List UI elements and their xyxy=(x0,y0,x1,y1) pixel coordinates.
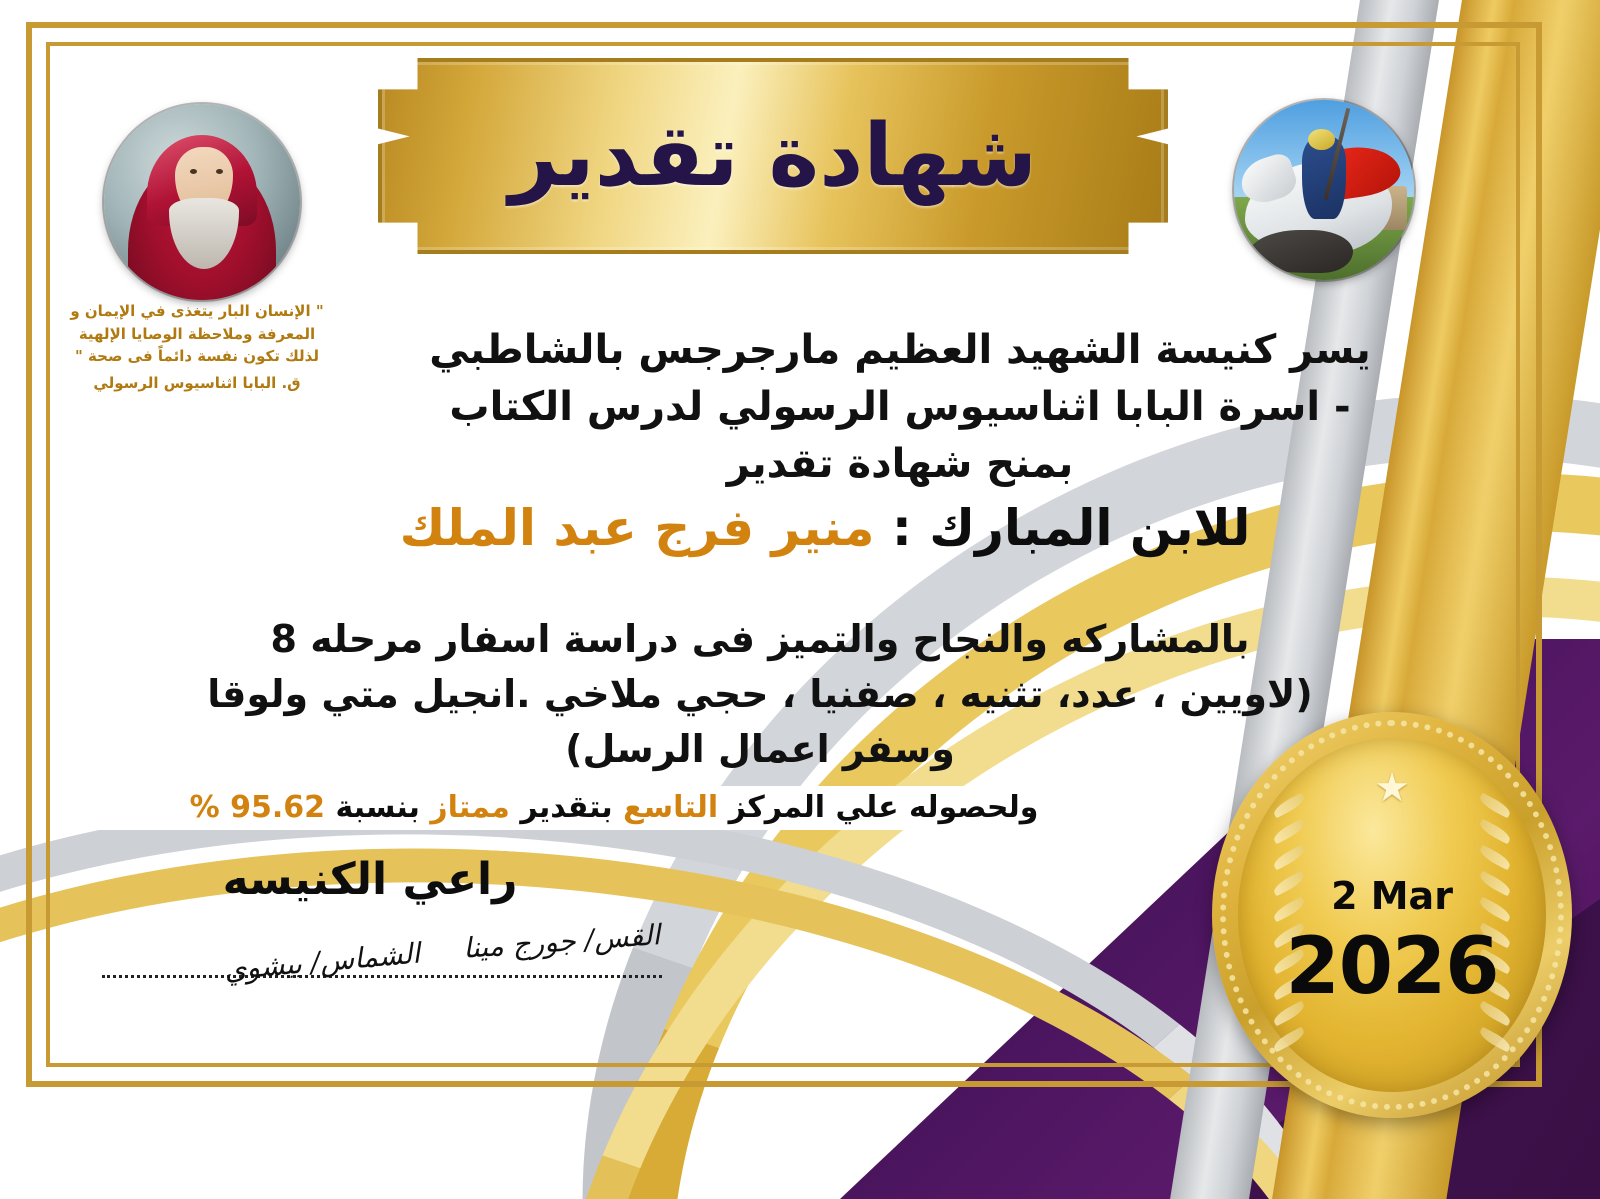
award-medal: ★ 2 Mar 2026 xyxy=(1212,712,1572,1118)
result-grade: ممتاز xyxy=(430,790,509,825)
dragon-shape xyxy=(1248,230,1352,273)
body-line-3: بمنح شهادة تقدير xyxy=(360,436,1440,493)
quote-source: ق. البابا اثناسيوس الرسولي xyxy=(62,372,332,395)
result-line: ولحصوله علي المركز التاسع بتقدير ممتاز ب… xyxy=(64,786,1164,830)
signature-dotted-line xyxy=(102,975,662,978)
signature-row: القس/ جورج مينا الشماس/ بيشوي xyxy=(70,897,670,1037)
result-percent: 95.62 % xyxy=(190,790,325,825)
body-text-block: يسر كنيسة الشهيد العظيم مارجرجس بالشاطبي… xyxy=(360,322,1440,492)
recipient-label: للابن المبارك : xyxy=(892,499,1251,557)
description-block: بالمشاركه والنجاح والتميز فى دراسة اسفار… xyxy=(140,612,1380,777)
quote-text: " الإنسان البار يتغذى في الإيمان و المعر… xyxy=(62,300,332,368)
eye-shape xyxy=(190,169,197,174)
quote-block: " الإنسان البار يتغذى في الإيمان و المعر… xyxy=(62,300,332,394)
helmet-shape xyxy=(1308,129,1335,151)
certificate-title: شهادة تقدير xyxy=(378,58,1168,254)
medal-date: 2 Mar xyxy=(1238,874,1546,918)
description-line-3: وسفر اعمال الرسل) xyxy=(140,722,1380,777)
description-line-1: بالمشاركه والنجاح والتميز فى دراسة اسفار… xyxy=(140,612,1380,667)
result-percent-label: بنسبة xyxy=(335,790,419,825)
recipient-line: للابن المبارك : منير فرج عبد الملك xyxy=(280,498,1370,558)
eye-shape xyxy=(216,169,223,174)
description-line-2: (لاويين ، عدد، تثنيه ، صفنيا ، حجي ملاخي… xyxy=(140,667,1380,722)
body-line-1: يسر كنيسة الشهيد العظيم مارجرجس بالشاطبي xyxy=(360,322,1440,379)
result-grade-label: بتقدير xyxy=(520,790,612,825)
star-icon: ★ xyxy=(1374,768,1410,808)
signature-block: راعي الكنيسه القس/ جورج مينا الشماس/ بيش… xyxy=(70,854,670,1037)
title-banner: شهادة تقدير xyxy=(378,58,1168,254)
certificate-page: شهادة تقدير " الإنسان البار يتغذى في الإ… xyxy=(0,0,1600,1199)
recipient-name: منير فرج عبد الملك xyxy=(400,499,875,557)
signature-handwriting-right: القس/ جورج مينا xyxy=(462,918,661,965)
saint-george-icon xyxy=(1234,100,1414,280)
saint-athanasius-icon xyxy=(104,104,300,300)
result-rank: التاسع xyxy=(623,790,718,825)
result-prefix: ولحصوله علي المركز xyxy=(729,790,1039,825)
medal-year: 2026 xyxy=(1238,922,1546,1012)
body-line-2: - اسرة البابا اثناسيوس الرسولي لدرس الكت… xyxy=(360,379,1440,436)
medal-inner-disc: ★ 2 Mar 2026 xyxy=(1238,738,1546,1092)
signature-handwriting-left: الشماس/ بيشوي xyxy=(223,937,421,987)
